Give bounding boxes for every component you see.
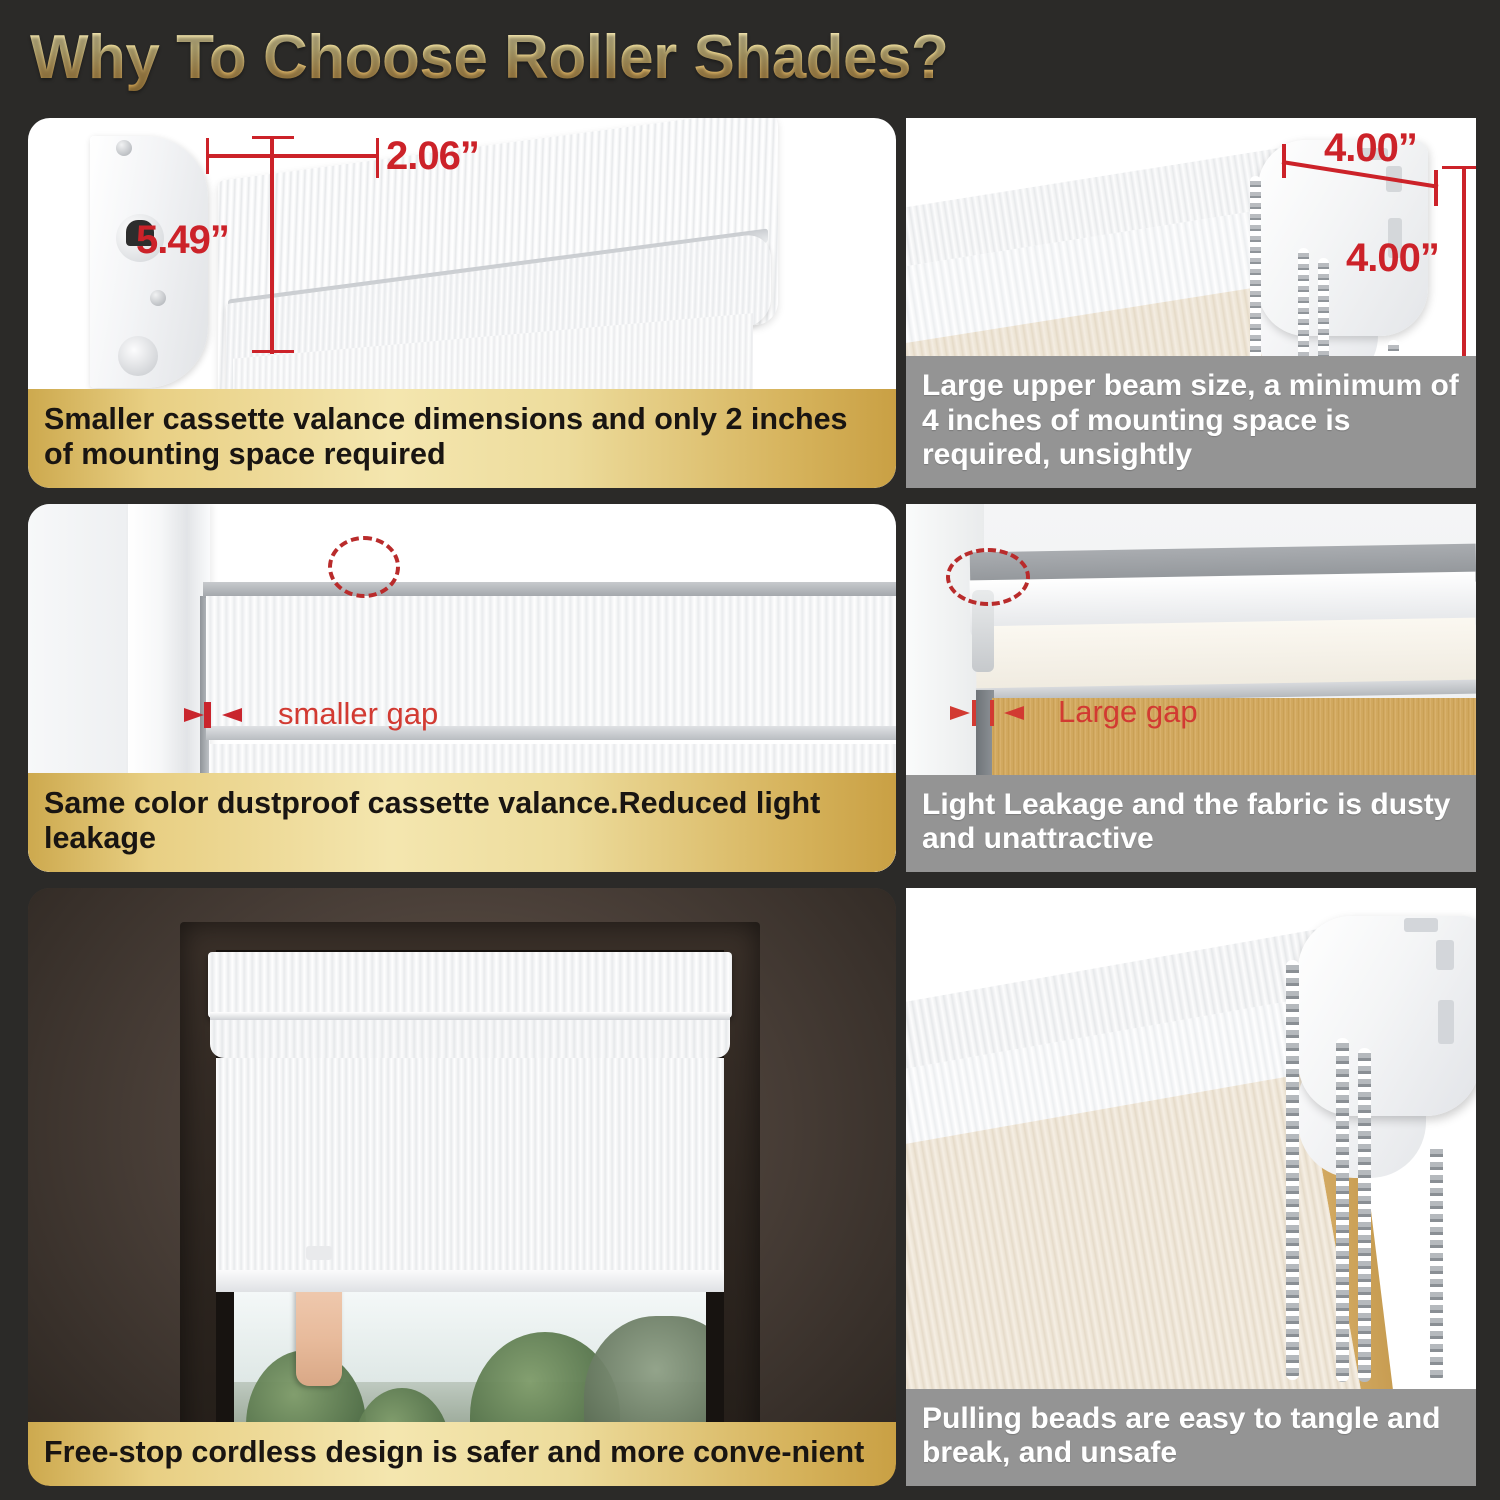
annotation-height-549: 5.49”: [136, 218, 229, 263]
dim-tick-top: [252, 136, 294, 139]
dim-tick-right: [376, 138, 379, 178]
caption-panel-1: Smaller cassette valance dimensions and …: [28, 389, 896, 488]
screw-icon: [150, 290, 166, 306]
panel-smaller-gap[interactable]: smaller gap Same color dustproof cassett…: [28, 504, 896, 872]
dim-tick-top: [1442, 166, 1476, 169]
caption-panel-2: Large upper beam size, a minimum of 4 in…: [906, 356, 1476, 488]
roller-band: [210, 1020, 730, 1058]
cassette-valance: [208, 952, 732, 1018]
pin-icon: [118, 336, 158, 376]
gap-marker: [972, 700, 976, 726]
caption-panel-3: Same color dustproof cassette valance.Re…: [28, 773, 896, 872]
photo-window-scene: [28, 888, 896, 1486]
arrow-right-icon: [918, 698, 972, 728]
annotation-smaller-gap: smaller gap: [278, 696, 438, 732]
comparison-grid: 2.06” 5.49” Smaller cassette valance dim…: [0, 118, 1500, 1500]
infographic-page: Why To Choose Roller Shades? 2.06”: [0, 0, 1500, 1500]
annotation-width-400: 4.00”: [1324, 126, 1417, 171]
arrow-left-icon: [1000, 698, 1058, 728]
bottom-rail: [216, 1270, 724, 1292]
gap-marker: [990, 700, 994, 726]
annotation-width-206: 2.06”: [386, 134, 479, 179]
panel-pulling-beads[interactable]: Pulling beads are easy to tangle and bre…: [906, 888, 1476, 1486]
bead-chain: [1358, 1048, 1371, 1382]
panel-smaller-cassette[interactable]: 2.06” 5.49” Smaller cassette valance dim…: [28, 118, 896, 488]
dim-tick-right: [1434, 170, 1438, 206]
panel-large-upper-beam[interactable]: 4.00” 4.00” Large upper beam size, a min…: [906, 118, 1476, 488]
arrow-left-icon: [216, 700, 276, 730]
highlight-circle: [328, 536, 400, 598]
bracket-slot-icon: [1436, 940, 1454, 970]
caption-panel-6: Pulling beads are easy to tangle and bre…: [906, 1389, 1476, 1486]
screw-icon: [116, 140, 132, 156]
bracket-slot-icon: [1404, 918, 1438, 932]
bracket-slot-icon: [1438, 1000, 1454, 1044]
caption-panel-4: Light Leakage and the fabric is dusty an…: [906, 775, 1476, 872]
annotation-height-400: 4.00”: [1346, 236, 1439, 281]
page-title: Why To Choose Roller Shades?: [30, 22, 948, 93]
annotation-large-gap: Large gap: [1058, 694, 1198, 730]
caption-panel-5: Free-stop cordless design is safer and m…: [28, 1422, 896, 1486]
dim-line-height: [1462, 166, 1466, 374]
dim-line-height: [270, 136, 274, 354]
panel-large-gap[interactable]: Large gap Light Leakage and the fabric i…: [906, 504, 1476, 872]
arrow-right-icon: [150, 700, 206, 730]
dim-tick-bottom: [252, 350, 294, 353]
pull-tab: [306, 1246, 332, 1260]
bead-chain: [1286, 960, 1299, 1380]
panel-cordless-design[interactable]: Free-stop cordless design is safer and m…: [28, 888, 896, 1486]
shade-fabric: [216, 1058, 724, 1278]
dim-line-width: [206, 154, 378, 158]
bead-chain: [1430, 1144, 1443, 1382]
bead-chain: [1336, 1038, 1349, 1382]
highlight-circle: [946, 548, 1030, 606]
